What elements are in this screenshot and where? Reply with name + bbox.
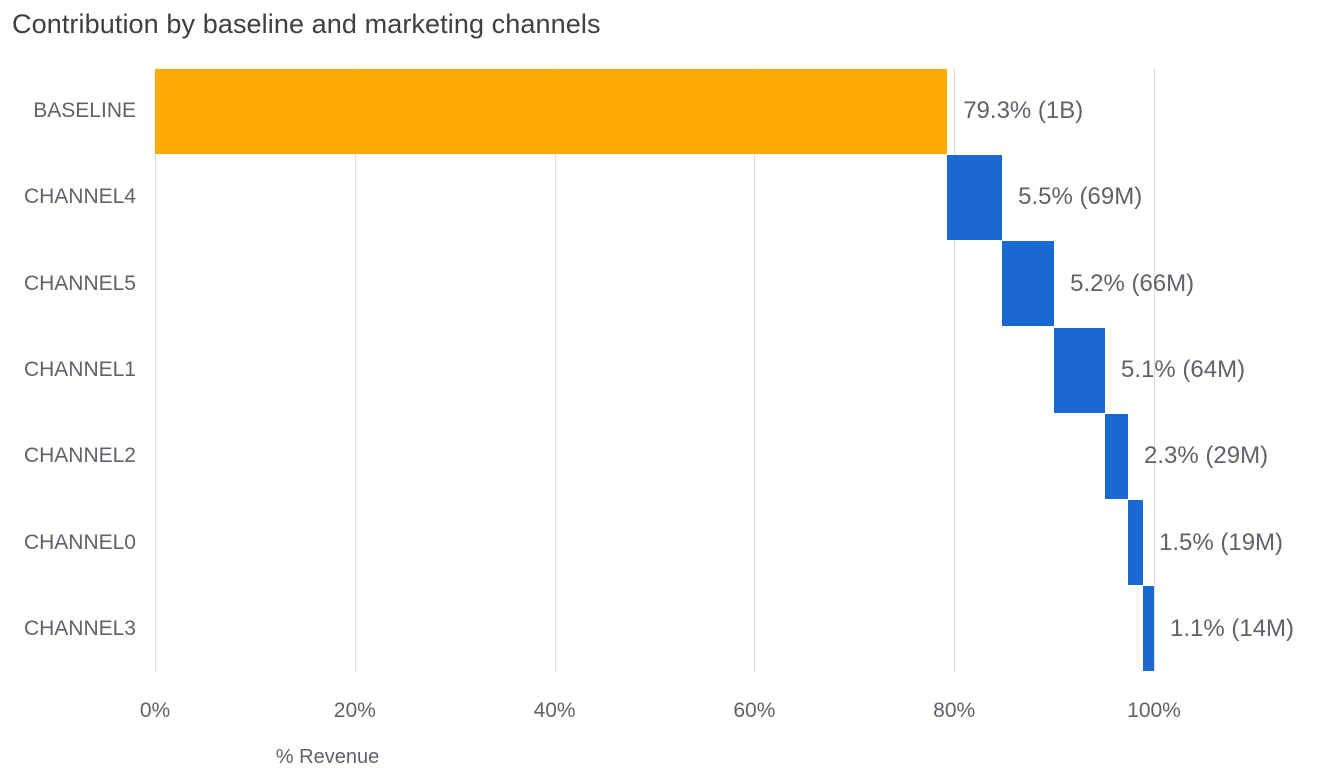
x-tick-100pct: 100% [1127,698,1181,724]
bar-channel3[interactable] [1143,586,1154,671]
bar-channel1[interactable] [1054,328,1105,413]
y-axis-label-channel3: CHANNEL3 [0,617,136,641]
bar-baseline[interactable] [155,69,947,154]
x-axis-title: % Revenue [0,745,1330,769]
gridline [355,68,356,672]
x-tick-60pct: 60% [733,698,775,724]
y-axis-label-channel2: CHANNEL2 [0,444,136,468]
value-label-channel3: 1.1% (14M) [1170,615,1294,643]
y-axis-label-channel0: CHANNEL0 [0,531,136,555]
y-axis-category-labels: BASELINECHANNEL4CHANNEL5CHANNEL1CHANNEL2… [0,68,136,672]
gridline [155,68,156,672]
bar-channel2[interactable] [1105,414,1128,499]
y-axis-label-channel1: CHANNEL1 [0,358,136,382]
value-label-channel2: 2.3% (29M) [1144,442,1268,470]
y-axis-label-channel5: CHANNEL5 [0,272,136,296]
bar-channel0[interactable] [1128,500,1143,585]
x-tick-80pct: 80% [933,698,975,724]
y-axis-label-channel4: CHANNEL4 [0,185,136,209]
x-axis-title-text: % Revenue [276,745,379,769]
x-tick-40pct: 40% [534,698,576,724]
gridline [754,68,755,672]
bar-channel5[interactable] [1002,241,1054,326]
value-label-channel0: 1.5% (19M) [1159,529,1283,557]
x-tick-20pct: 20% [334,698,376,724]
gridline [555,68,556,672]
waterfall-chart: Contribution by baseline and marketing c… [0,0,1330,781]
plot-area [155,68,1154,672]
y-axis-label-baseline: BASELINE [0,99,136,123]
bar-channel4[interactable] [947,155,1002,240]
x-tick-0pct: 0% [140,698,170,724]
x-axis-tick-labels: 0%20%40%60%80%100% [0,698,1330,728]
gridline [1154,68,1155,672]
chart-title: Contribution by baseline and marketing c… [12,6,601,42]
